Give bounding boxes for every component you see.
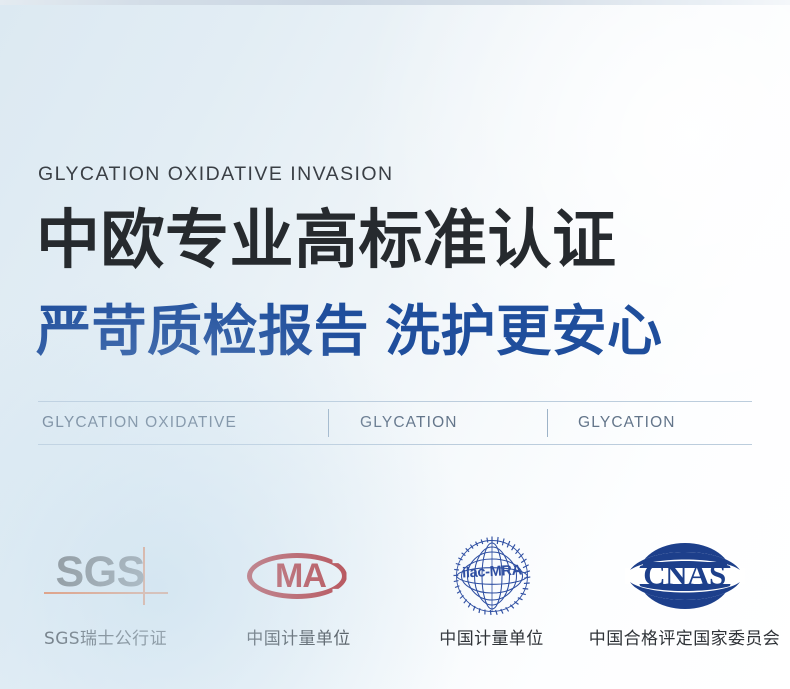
sgs-wordmark: SGS <box>56 549 145 595</box>
subtitle-part-right: 洗护更安心 <box>385 299 663 363</box>
tag-strip: GLYCATION OXIDATIVE GLYCATION GLYCATION <box>38 401 752 445</box>
certification-item-cnas: CNAS 中国合格评定国家委员会 <box>588 536 781 649</box>
certification-caption-sgs: SGS瑞士公行证 <box>9 624 202 649</box>
tag-item-2: GLYCATION <box>578 402 676 444</box>
tag-divider-2 <box>547 409 548 437</box>
eyebrow-text: GLYCATION OXIDATIVE INVASION <box>38 163 394 186</box>
subtitle: 严苛质检报告洗护更安心 <box>36 304 663 359</box>
certification-caption-cma: 中国计量单位 <box>202 624 395 649</box>
certification-item-ilac-mra: ilac-MRA 中国计量单位 <box>395 536 588 649</box>
cnas-mark: CNAS <box>588 536 781 616</box>
cma-logo-icon: MA <box>245 545 353 607</box>
cnas-wordmark: CNAS <box>625 558 745 592</box>
tag-item-1: GLYCATION <box>360 402 458 444</box>
cma-wordmark: MA <box>245 555 353 597</box>
cnas-logo-icon: CNAS <box>625 540 745 612</box>
certification-banner: GLYCATION OXIDATIVE INVASION 中欧专业高标准认证 严… <box>0 0 790 689</box>
sgs-mark: SGS <box>9 536 202 616</box>
certification-caption-ilac-mra: 中国计量单位 <box>395 624 588 649</box>
subtitle-part-left: 严苛质检报告 <box>36 299 369 363</box>
certification-caption-cnas: 中国合格评定国家委员会 <box>588 624 781 649</box>
tag-item-0: GLYCATION OXIDATIVE <box>42 402 237 444</box>
page-title: 中欧专业高标准认证 <box>36 209 617 273</box>
tag-divider-1 <box>328 409 329 437</box>
certification-item-cma: MA 中国计量单位 <box>202 536 395 649</box>
top-edge-strip <box>0 0 790 5</box>
ilac-mra-logo-icon: ilac-MRA <box>450 534 534 618</box>
certification-item-sgs: SGS SGS瑞士公行证 <box>9 536 202 649</box>
certification-list: SGS SGS瑞士公行证 MA 中国计量单位 <box>0 536 790 649</box>
ilac-mra-mark: ilac-MRA <box>395 536 588 616</box>
cma-mark: MA <box>202 536 395 616</box>
sgs-logo-icon: SGS <box>44 545 168 607</box>
